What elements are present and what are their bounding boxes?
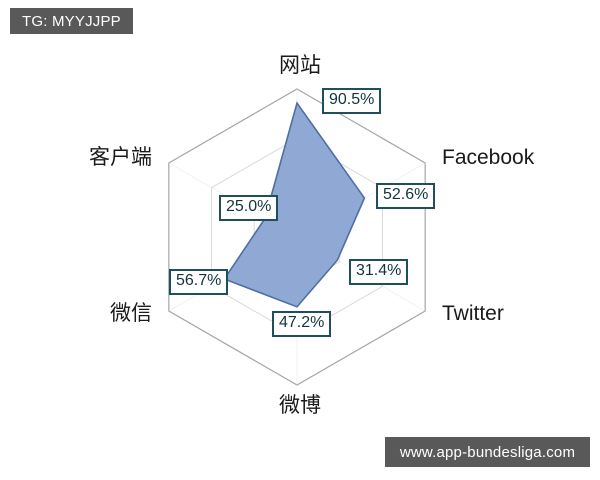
data-label-twitter: 31.4% xyxy=(349,259,408,285)
axis-label-website: 网站 xyxy=(279,55,321,76)
axis-label-twitter: Twitter xyxy=(442,303,504,324)
axis-label-facebook: Facebook xyxy=(442,147,534,168)
data-label-facebook: 52.6% xyxy=(376,183,435,209)
watermark-top-left: TG: MYYJJPP xyxy=(10,8,133,34)
axis-label-wechat: 微信 xyxy=(0,303,152,324)
watermark-bottom-right: www.app-bundesliga.com xyxy=(385,437,590,467)
data-label-client: 25.0% xyxy=(219,195,278,221)
axis-label-weibo: 微博 xyxy=(279,395,321,416)
data-label-website: 90.5% xyxy=(322,88,381,114)
axis-label-client: 客户端 xyxy=(0,147,152,168)
data-label-weibo: 47.2% xyxy=(272,311,331,337)
data-label-wechat: 56.7% xyxy=(169,269,228,295)
chart-canvas: 网站 Facebook Twitter 微博 微信 客户端 90.5% 52.6… xyxy=(0,0,600,480)
